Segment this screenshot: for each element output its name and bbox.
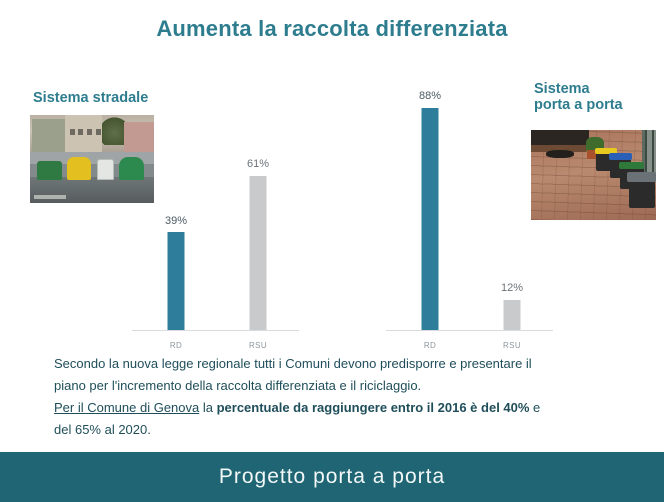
chart-sistema-stradale: 39% RD 61% RSU: [128, 95, 303, 345]
bar-value-rsu: 12%: [501, 282, 523, 294]
section-heading-right-line2: porta a porta: [534, 97, 623, 113]
photo-tree: [102, 115, 127, 145]
wheelie-bin-lid: [627, 172, 655, 181]
tick-label-rd: RD: [424, 341, 436, 350]
body-line-4: del 65% al 2020.: [54, 419, 626, 441]
photo-window: [96, 129, 101, 135]
body-line-3-end: e: [529, 400, 540, 415]
photo-wheelie-bin-gray: [629, 172, 655, 208]
bar-value-rd: 88%: [419, 90, 441, 102]
photo-right-scene: [531, 130, 656, 220]
wheelie-bin-lid: [619, 162, 645, 169]
body-line-1: Secondo la nuova legge regionale tutti i…: [54, 353, 626, 375]
wheelie-bin-body: [629, 180, 655, 208]
body-paragraph: Secondo la nuova legge regionale tutti i…: [54, 353, 626, 441]
bar-value-rsu: 61%: [247, 158, 269, 170]
body-line-3-underlined: Per il Comune di Genova: [54, 400, 199, 415]
section-heading-right-line1: Sistema: [534, 81, 623, 97]
wheelie-bin-lid: [609, 153, 632, 159]
bar-value-rd: 39%: [165, 215, 187, 227]
photo-bin-green: [37, 161, 62, 180]
bar-group-rd: 39% RD: [136, 95, 216, 345]
body-line-3: Per il Comune di Genova la percentuale d…: [54, 397, 626, 419]
section-heading-right: Sistema porta a porta: [534, 81, 623, 113]
photo-window: [87, 129, 92, 135]
photo-door-mat: [546, 150, 574, 158]
bar-group-rd: 88% RD: [390, 95, 470, 345]
photo-window: [78, 129, 83, 135]
footer-bar: Progetto porta a porta: [0, 452, 664, 502]
page-title: Aumenta la raccolta differenziata: [0, 16, 664, 42]
bar-rsu: [250, 176, 267, 330]
bar-rsu: [504, 300, 521, 330]
body-line-3-bold: percentuale da raggiungere entro il 2016…: [217, 400, 530, 415]
body-line-2: piano per l'incremento della raccolta di…: [54, 375, 626, 397]
slide-root: Aumenta la raccolta differenziata Sistem…: [0, 0, 664, 502]
photo-bin-white: [97, 159, 114, 180]
footer-title: Progetto porta a porta: [0, 465, 664, 489]
tick-label-rsu: RSU: [249, 341, 267, 350]
body-line-3-mid: la: [199, 400, 216, 415]
bar-rd: [422, 108, 439, 330]
door-to-door-wheelie-bins-photo: [531, 130, 656, 220]
photo-caption-strip: [34, 195, 66, 199]
tick-label-rd: RD: [170, 341, 182, 350]
tick-label-rsu: RSU: [503, 341, 521, 350]
bar-group-rsu: 61% RSU: [218, 95, 298, 345]
photo-window: [70, 129, 75, 135]
bar-rd: [168, 232, 185, 330]
photo-bin-yellow: [67, 157, 91, 180]
photo-building-left: [32, 119, 64, 154]
